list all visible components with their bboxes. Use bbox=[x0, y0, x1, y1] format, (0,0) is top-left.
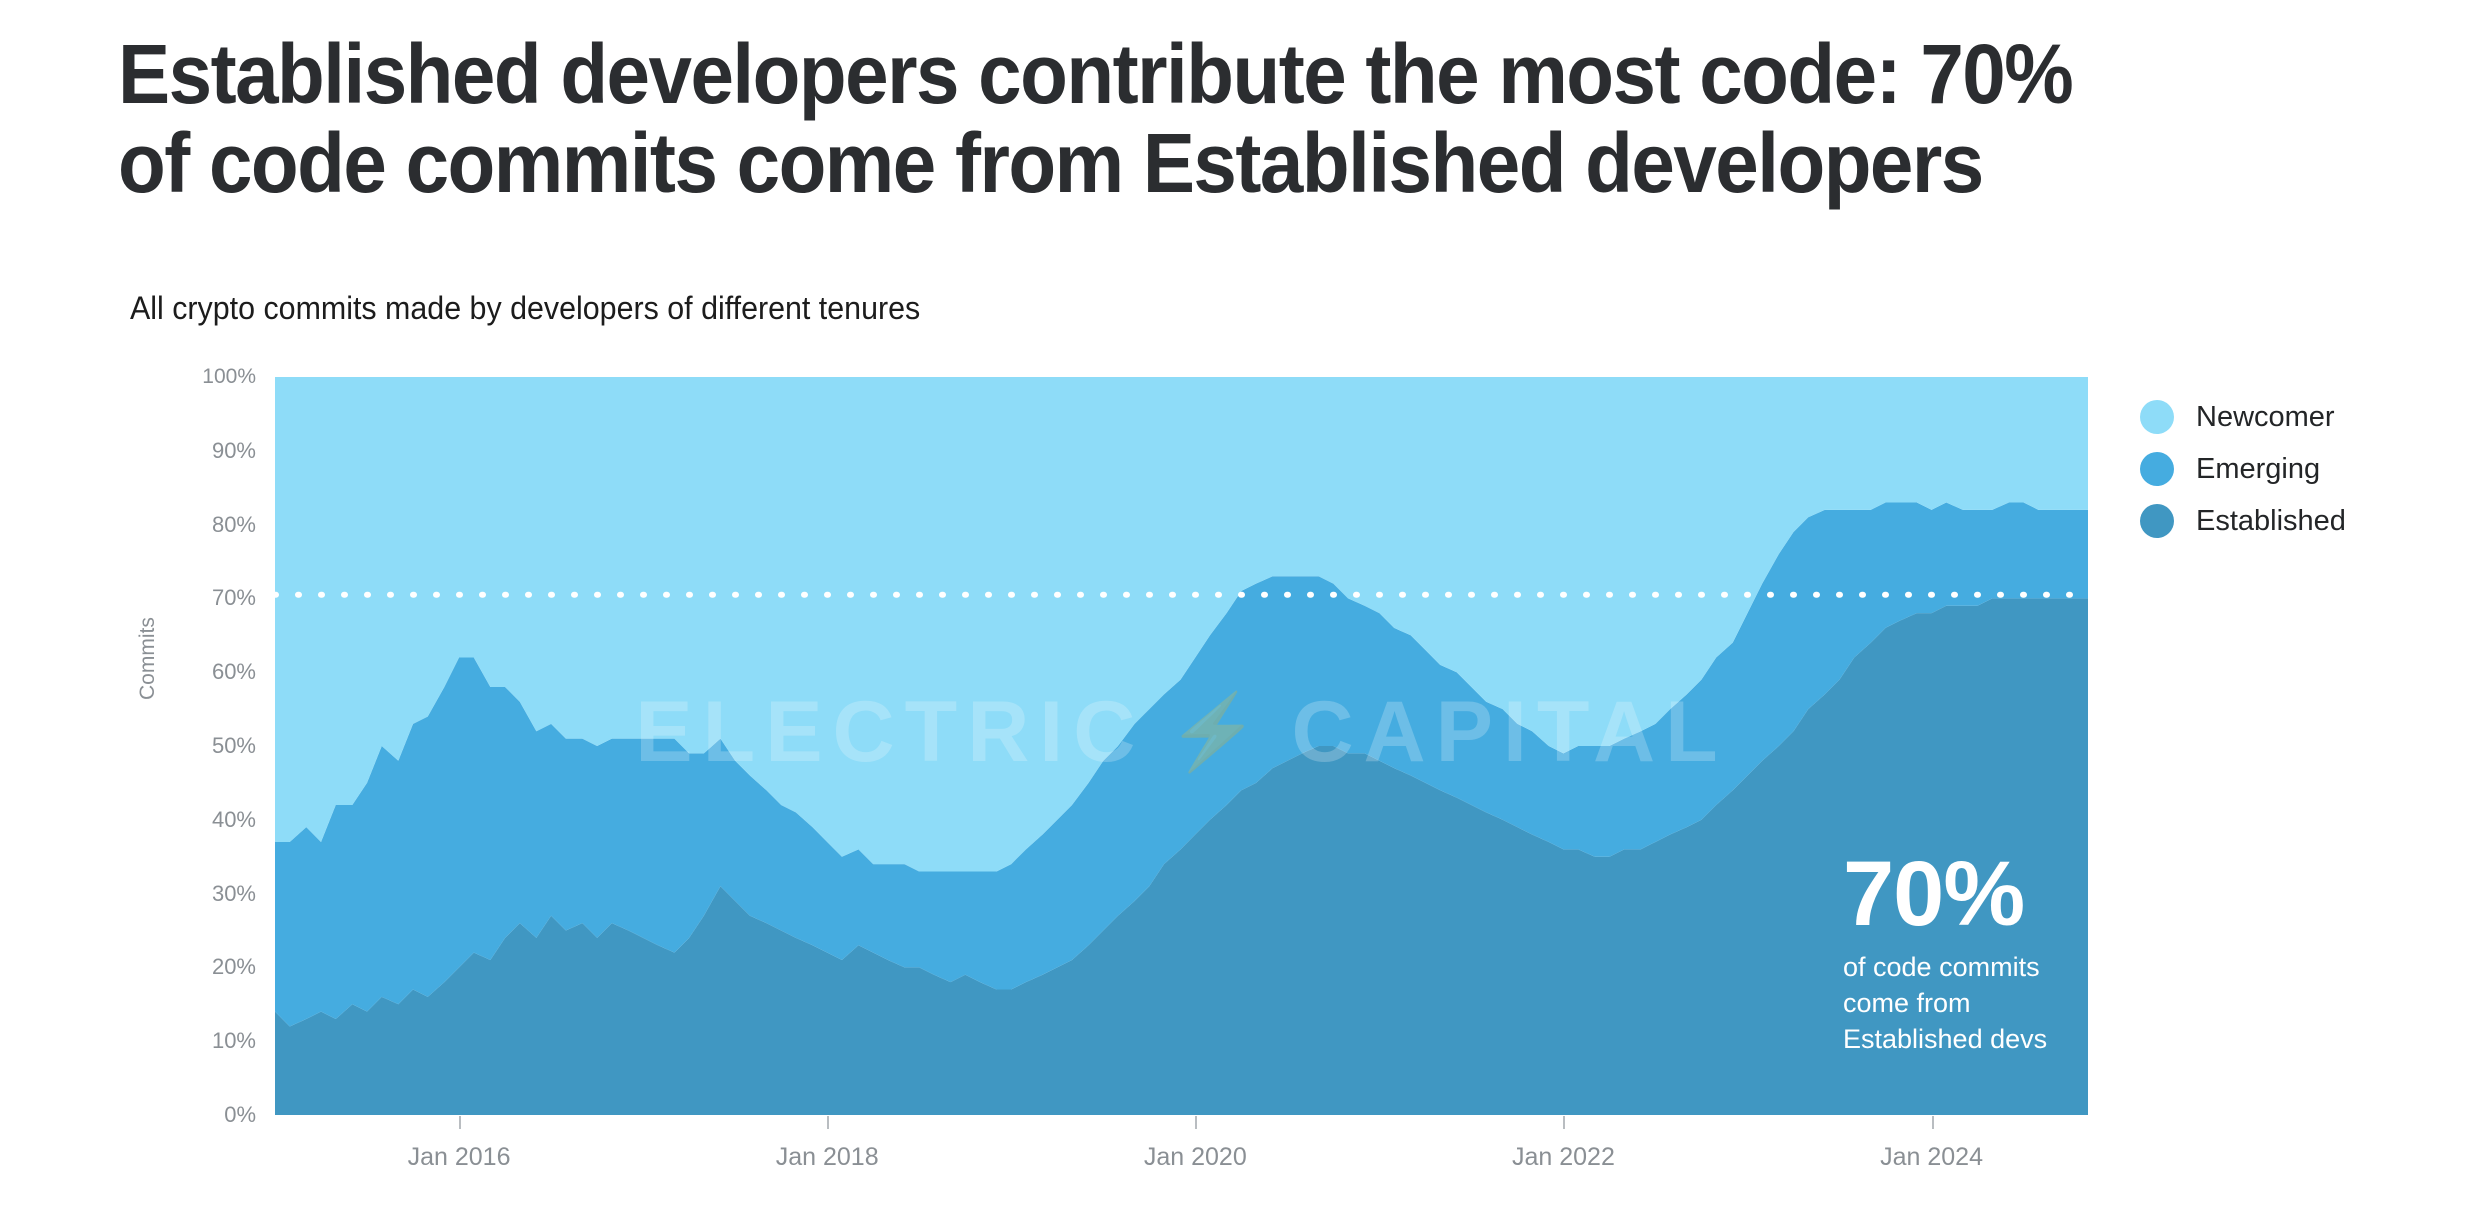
y-axis-tick-label: 0% bbox=[150, 1102, 256, 1128]
chart-legend: NewcomerEmergingEstablished bbox=[2140, 400, 2346, 538]
y-axis-tick-label: 20% bbox=[150, 954, 256, 980]
x-axis-tick-label: Jan 2022 bbox=[1512, 1143, 1615, 1172]
x-axis-tick-label: Jan 2024 bbox=[1880, 1143, 1983, 1172]
legend-color-swatch-icon bbox=[2140, 400, 2174, 434]
y-axis-title: Commits bbox=[136, 617, 160, 700]
y-axis-tick-label: 100% bbox=[150, 365, 256, 389]
legend-color-swatch-icon bbox=[2140, 504, 2174, 538]
x-axis-tick-mark bbox=[459, 1116, 461, 1129]
x-axis-tick-label: Jan 2018 bbox=[776, 1143, 879, 1172]
legend-color-swatch-icon bbox=[2140, 452, 2174, 486]
legend-item-newcomer[interactable]: Newcomer bbox=[2140, 400, 2346, 434]
chart-plot-region: ELECTRIC ⚡ CAPITAL 70% of code commits c… bbox=[0, 340, 2492, 1170]
legend-item-label: Newcomer bbox=[2196, 401, 2335, 434]
y-axis-tick-label: 10% bbox=[150, 1028, 256, 1054]
y-axis-tick-label: 40% bbox=[150, 807, 256, 833]
x-axis-tick-mark bbox=[1195, 1116, 1197, 1129]
chart-page: Established developers contribute the mo… bbox=[0, 0, 2492, 1212]
page-title: Established developers contribute the mo… bbox=[118, 30, 2238, 208]
y-axis-tick-label: 50% bbox=[150, 733, 256, 759]
legend-item-label: Emerging bbox=[2196, 453, 2320, 486]
x-axis-tick-mark bbox=[1932, 1116, 1934, 1129]
x-axis-tick-mark bbox=[827, 1116, 829, 1129]
legend-item-label: Established bbox=[2196, 505, 2346, 538]
legend-item-established[interactable]: Established bbox=[2140, 504, 2346, 538]
y-axis-tick-label: 80% bbox=[150, 512, 256, 538]
stacked-area-svg bbox=[0, 340, 2492, 1170]
x-axis-tick-label: Jan 2016 bbox=[408, 1143, 511, 1172]
chart-subtitle: All crypto commits made by developers of… bbox=[130, 290, 920, 327]
y-axis-tick-label: 60% bbox=[150, 659, 256, 685]
legend-item-emerging[interactable]: Emerging bbox=[2140, 452, 2346, 486]
y-axis-tick-label: 90% bbox=[150, 438, 256, 464]
x-axis-tick-mark bbox=[1563, 1116, 1565, 1129]
y-axis-tick-label: 30% bbox=[150, 881, 256, 907]
x-axis-tick-label: Jan 2020 bbox=[1144, 1143, 1247, 1172]
y-axis-tick-label: 70% bbox=[150, 585, 256, 611]
